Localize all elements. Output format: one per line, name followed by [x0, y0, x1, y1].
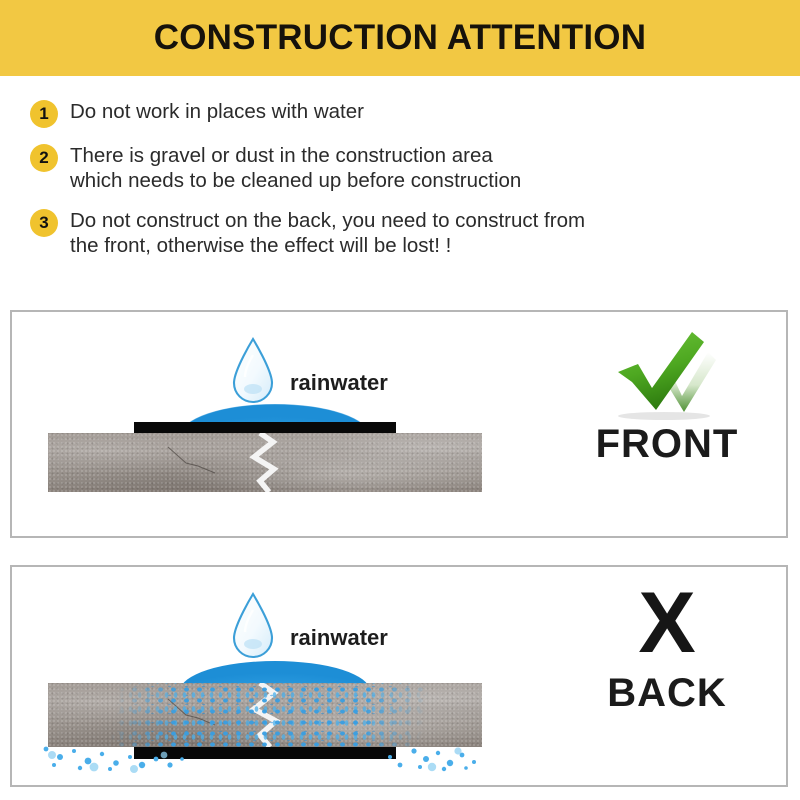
rainwater-label-back: rainwater	[290, 625, 388, 651]
scene-back: rainwater	[12, 567, 786, 785]
header-banner: CONSTRUCTION ATTENTION	[0, 0, 800, 76]
note-text-3: Do not construct on the back, you need t…	[70, 207, 585, 258]
attention-notes-list: 1 Do not work in places with water 2 The…	[0, 76, 800, 272]
result-label-back: BACK	[572, 671, 762, 716]
list-item: 1 Do not work in places with water	[0, 98, 800, 128]
page-title: CONSTRUCTION ATTENTION	[154, 18, 646, 58]
note-number-badge-3: 3	[30, 209, 58, 237]
water-drop-glyph	[230, 591, 276, 663]
waterproof-tape-front	[134, 422, 396, 433]
note-number-badge-1: 1	[30, 100, 58, 128]
result-front: FRONT	[572, 330, 762, 467]
result-label-front: FRONT	[572, 422, 762, 467]
water-pool-back	[180, 655, 370, 685]
crack-front	[48, 433, 482, 492]
green-check-icon	[608, 330, 726, 422]
note-text-1: Do not work in places with water	[70, 98, 364, 124]
water-leak-splash-icon	[30, 735, 490, 777]
result-back: X BACK	[572, 583, 762, 716]
rainwater-label-front: rainwater	[290, 370, 388, 396]
concrete-slab-front	[48, 433, 482, 492]
illustration-panel-front: rainwater	[10, 310, 788, 538]
illustration-panel-back: rainwater	[10, 565, 788, 787]
list-item: 3 Do not construct on the back, you need…	[0, 207, 800, 258]
x-mark-icon: X	[572, 583, 762, 665]
scene-front: rainwater	[12, 312, 786, 536]
note-text-2: There is gravel or dust in the construct…	[70, 142, 521, 193]
note-number-badge-2: 2	[30, 144, 58, 172]
list-item: 2 There is gravel or dust in the constru…	[0, 142, 800, 193]
water-pool-shape	[180, 655, 370, 685]
